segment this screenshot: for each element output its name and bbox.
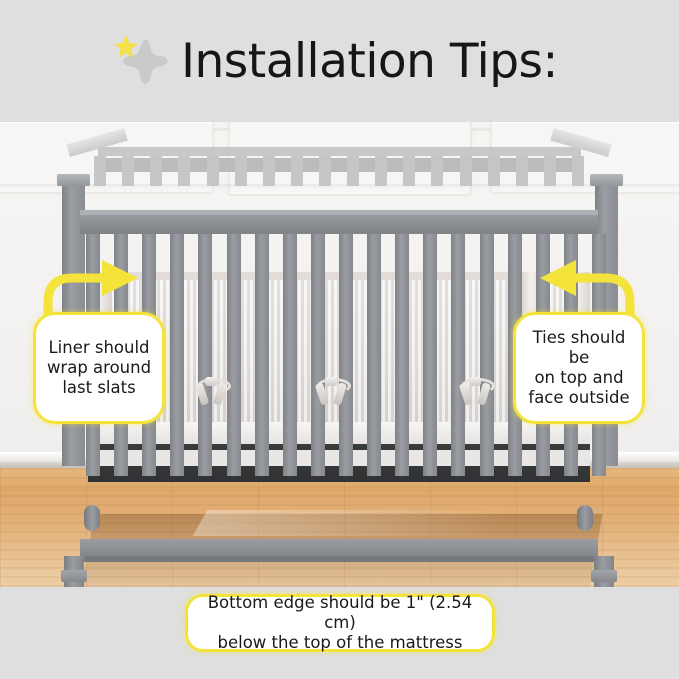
tie-knot — [469, 377, 481, 386]
crib-far-slat — [291, 156, 303, 186]
installation-tips-infographic: Installation Tips: — [0, 0, 679, 679]
crib-far-slat — [319, 156, 331, 186]
crib-far-slat — [460, 156, 472, 186]
star-small-icon — [113, 34, 139, 60]
callout-ties-outside: Ties should be on top and face outside — [513, 312, 645, 424]
callout-ties-line-1: Ties should be — [522, 328, 636, 368]
callout-bottom-line-2: below the top of the mattress — [198, 633, 482, 653]
tie-knot — [205, 377, 217, 386]
liner-tie — [460, 377, 490, 405]
crib-slat — [395, 234, 409, 476]
crib-post-cap-left — [57, 174, 90, 186]
tie-knot — [325, 377, 337, 386]
crib-slat — [255, 234, 269, 476]
crib-far-slat — [178, 156, 190, 186]
callout-bottom-line-1: Bottom edge should be 1" (2.54 cm) — [198, 593, 482, 633]
crib-far-slat — [94, 156, 106, 186]
header-inner: Installation Tips: — [109, 30, 558, 92]
callout-liner-wrap: Liner should wrap around last slats — [33, 312, 165, 424]
crib-top-rail-highlight — [80, 210, 598, 215]
crib-slat — [283, 234, 297, 476]
crib-bottom-rail — [80, 539, 598, 556]
callout-liner-line-3: last slats — [47, 378, 151, 398]
crib-slat — [367, 234, 381, 476]
crib-far-slat — [207, 156, 219, 186]
crib-slat — [451, 234, 465, 476]
crib-foot-left — [61, 570, 87, 582]
crib-far-slat — [431, 156, 443, 186]
crib-slat — [227, 234, 241, 476]
crib-slat — [170, 234, 184, 476]
liner-tie — [196, 377, 226, 405]
crib-far-slat — [572, 156, 584, 186]
callout-liner-line-1: Liner should — [47, 338, 151, 358]
crib-bottom-rail-shadow — [80, 556, 598, 562]
callout-ties-line-3: face outside — [522, 388, 636, 408]
crib-post-cap-right — [590, 174, 623, 186]
crib-slat — [198, 234, 212, 476]
crib-slat — [423, 234, 437, 476]
crib-slat — [311, 234, 325, 476]
crib-far-slat — [263, 156, 275, 186]
crib-far-slat — [122, 156, 134, 186]
header-band: Installation Tips: — [0, 0, 679, 122]
page-title: Installation Tips: — [181, 38, 558, 85]
crib-far-rail — [98, 147, 581, 156]
crib-foot-right — [591, 570, 617, 582]
crib-far-slat — [375, 156, 387, 186]
crib-back-top-rail — [98, 158, 581, 172]
crib-knob-right — [577, 505, 593, 531]
crib-far-slat — [403, 156, 415, 186]
crib-far-slat — [516, 156, 528, 186]
callout-liner-line-2: wrap around — [47, 358, 151, 378]
crib-far-slat — [347, 156, 359, 186]
crib-far-slat — [150, 156, 162, 186]
crib-slat — [480, 234, 494, 476]
liner-tie — [316, 377, 346, 405]
crib-far-slat — [544, 156, 556, 186]
crib-far-slat — [488, 156, 500, 186]
crib-slat — [339, 234, 353, 476]
crib-far-slat — [235, 156, 247, 186]
callout-ties-line-2: on top and — [522, 368, 636, 388]
crib-knob-left — [84, 505, 100, 531]
callout-bottom-edge: Bottom edge should be 1" (2.54 cm) below… — [185, 594, 495, 652]
star-cluster — [109, 30, 171, 92]
